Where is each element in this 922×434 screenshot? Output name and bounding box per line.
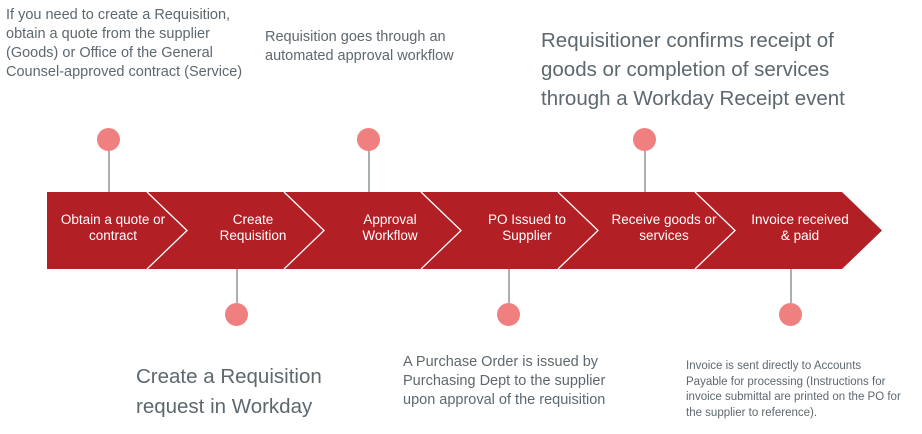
note-bottom-invoice: Invoice is sent directly to Accounts Pay… — [686, 359, 901, 421]
connector-stem-top-3 — [644, 150, 646, 192]
connector-stem-bottom-1 — [236, 269, 238, 303]
note-top-quote: If you need to create a Requisition, obt… — [6, 6, 246, 81]
process-chevron-bar: Obtain a quote or contract Create Requis… — [47, 192, 882, 269]
connector-dot-top-2 — [357, 128, 380, 151]
step-label-4[interactable]: PO Issued to Supplier — [467, 212, 587, 245]
process-flow-diagram: If you need to create a Requisition, obt… — [0, 0, 922, 434]
note-bottom-requisition: Create a Requisition request in Workday — [136, 362, 366, 421]
note-top-approval: Requisition goes through an automated ap… — [265, 28, 495, 66]
step-label-3[interactable]: Approval Workflow — [331, 212, 449, 245]
step-label-5[interactable]: Receive goods or services — [601, 212, 727, 245]
connector-stem-bottom-2 — [508, 269, 510, 303]
connector-dot-top-3 — [633, 128, 656, 151]
step-label-2[interactable]: Create Requisition — [193, 212, 313, 245]
connector-dot-top-1 — [97, 128, 120, 151]
connector-stem-top-1 — [108, 150, 110, 192]
step-label-6[interactable]: Invoice received & paid — [739, 212, 861, 245]
connector-dot-bottom-1 — [225, 303, 248, 326]
connector-stem-top-2 — [368, 150, 370, 192]
note-top-receipt: Requisitioner confirms receipt of goods … — [541, 26, 881, 113]
connector-dot-bottom-2 — [497, 303, 520, 326]
connector-dot-bottom-3 — [779, 303, 802, 326]
connector-stem-bottom-3 — [790, 269, 792, 303]
step-label-1[interactable]: Obtain a quote or contract — [51, 212, 175, 245]
note-bottom-purchase-order: A Purchase Order is issued by Purchasing… — [403, 353, 623, 410]
